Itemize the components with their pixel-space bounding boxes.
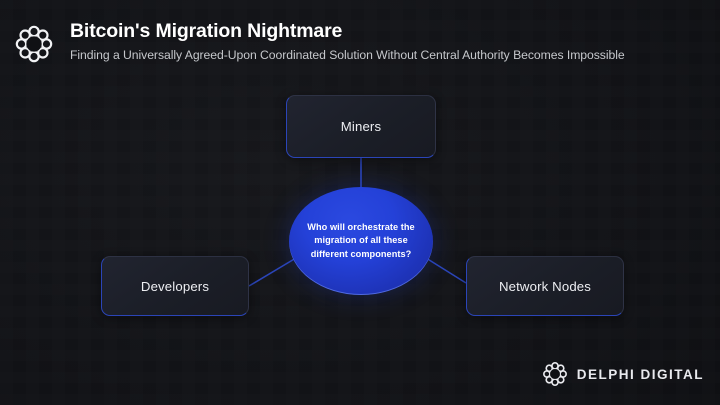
- edge-hub-network-nodes: [426, 258, 466, 283]
- diagram-node-label: Developers: [141, 279, 209, 294]
- diagram-container: Miners Developers Network Nodes Who will…: [0, 0, 720, 405]
- diagram-node-developers[interactable]: Developers: [101, 256, 249, 316]
- diagram-node-network-nodes[interactable]: Network Nodes: [466, 256, 624, 316]
- diagram-hub-circle[interactable]: Who will orchestrate the migration of al…: [289, 187, 433, 295]
- diagram-hub-label: Who will orchestrate the migration of al…: [305, 221, 417, 260]
- diagram-node-miners[interactable]: Miners: [286, 95, 436, 158]
- diagram-node-label: Miners: [341, 119, 381, 134]
- footer-wordmark: DELPHI DIGITAL: [577, 367, 704, 382]
- edge-hub-developers: [249, 258, 296, 286]
- delphi-chain-ring-icon: [542, 361, 568, 387]
- slide-canvas: Bitcoin's Migration Nightmare Finding a …: [0, 0, 720, 405]
- footer-brand-logo: DELPHI DIGITAL: [542, 361, 704, 387]
- diagram-node-label: Network Nodes: [499, 279, 591, 294]
